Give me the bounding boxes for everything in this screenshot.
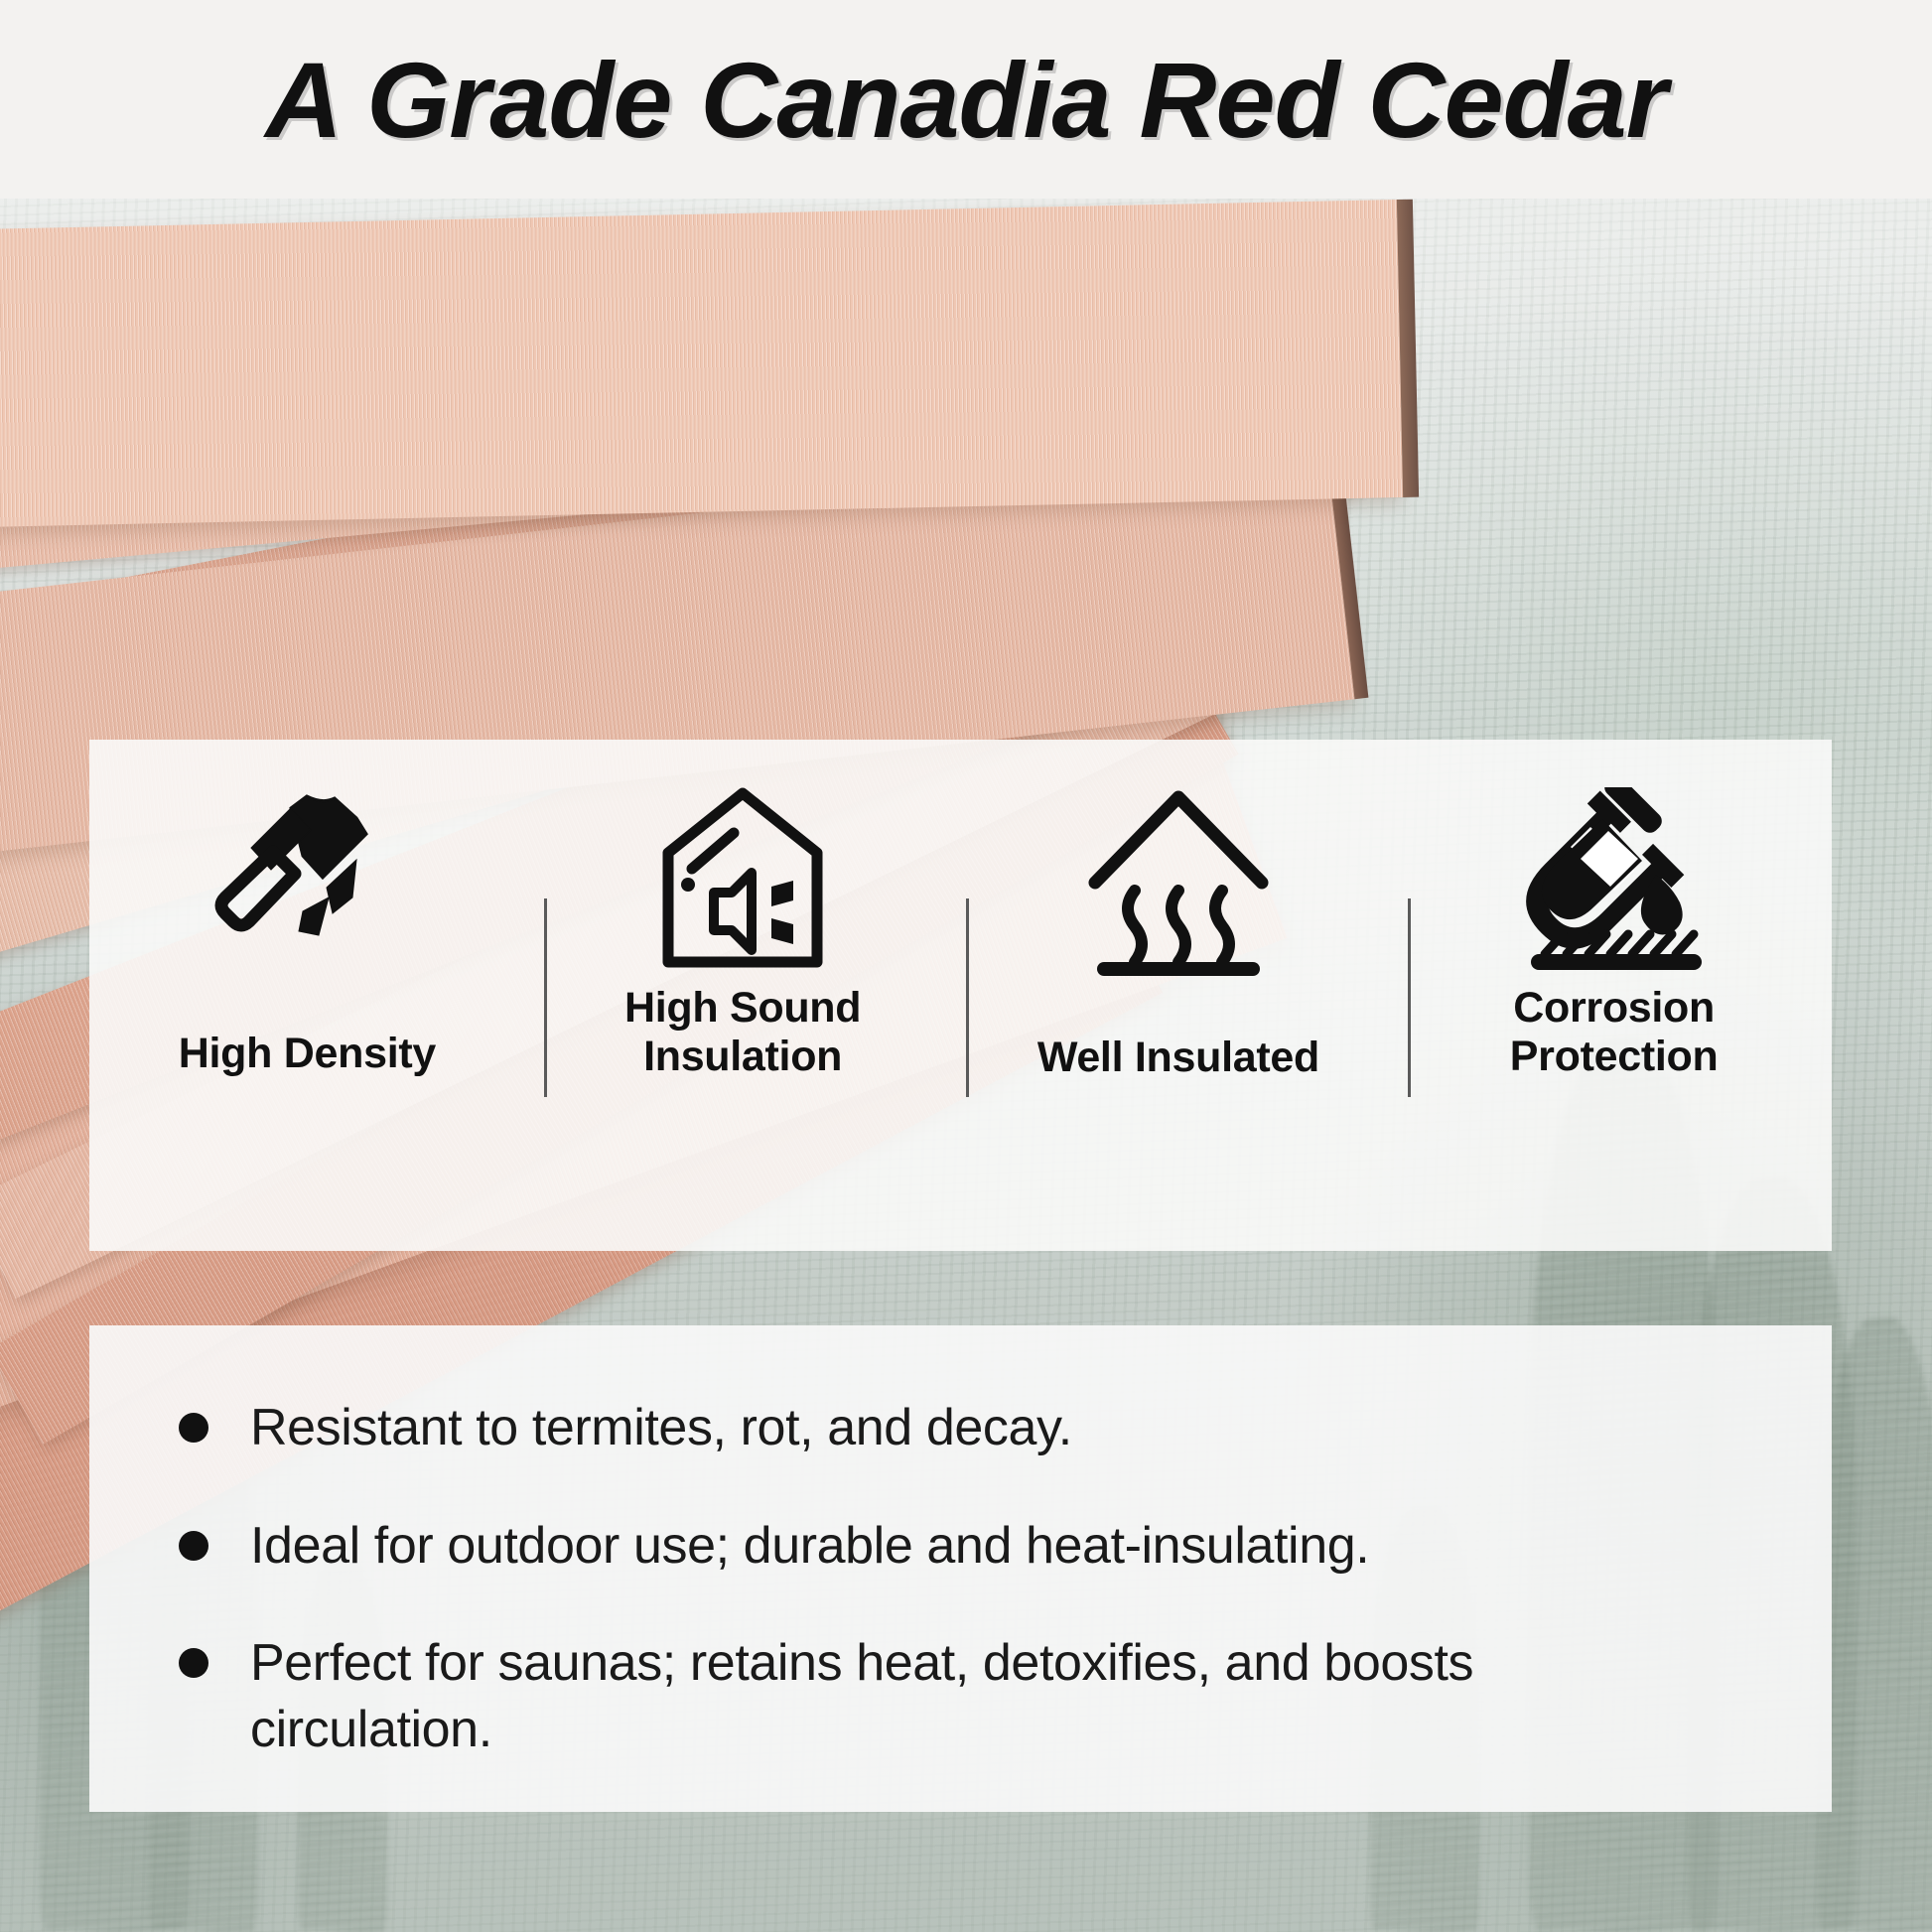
benefit-text: Perfect for saunas; retains heat, detoxi… [250,1630,1720,1762]
feature-label-corrosion-protection: CorrosionProtection [1510,984,1719,1082]
feature-divider-3 [1408,898,1411,1097]
bullet-dot-icon [179,1531,208,1561]
benefits-panel: Resistant to termites, rot, and decay. I… [89,1325,1832,1812]
benefit-text: Ideal for outdoor use; durable and heat-… [250,1513,1369,1580]
feature-corrosion-protection: CorrosionProtection [1396,740,1832,1251]
feature-high-sound-insulation: High SoundInsulation [525,740,961,1251]
hammer-icon [207,787,406,976]
house-speaker-icon [648,787,837,976]
feature-label-well-insulated: Well Insulated [1037,1034,1319,1082]
feature-divider-1 [544,898,547,1097]
feature-label-high-density: High Density [179,1030,436,1078]
list-item: Resistant to termites, rot, and decay. [179,1395,1742,1461]
test-tube-drop-icon [1515,787,1714,976]
heat-rising-icon [1079,787,1278,976]
feature-high-density: High Density [89,740,525,1251]
features-row: High Density High SoundInsulation [89,740,1832,1251]
features-panel: High Density High SoundInsulation [89,740,1832,1251]
benefits-list: Resistant to termites, rot, and decay. I… [89,1325,1832,1812]
list-item: Ideal for outdoor use; durable and heat-… [179,1513,1742,1580]
feature-well-insulated: Well Insulated [961,740,1397,1251]
feature-divider-2 [966,898,969,1097]
bullet-dot-icon [179,1413,208,1443]
list-item: Perfect for saunas; retains heat, detoxi… [179,1630,1742,1762]
bullet-dot-icon [179,1648,208,1678]
feature-label-high-sound-insulation: High SoundInsulation [624,984,861,1082]
benefit-text: Resistant to termites, rot, and decay. [250,1395,1072,1461]
page-title: A Grade Canadia Red Cedar [0,0,1932,199]
header-band: A Grade Canadia Red Cedar [0,0,1932,199]
infographic-canvas: A Grade Canadia Red Cedar [0,0,1932,1932]
